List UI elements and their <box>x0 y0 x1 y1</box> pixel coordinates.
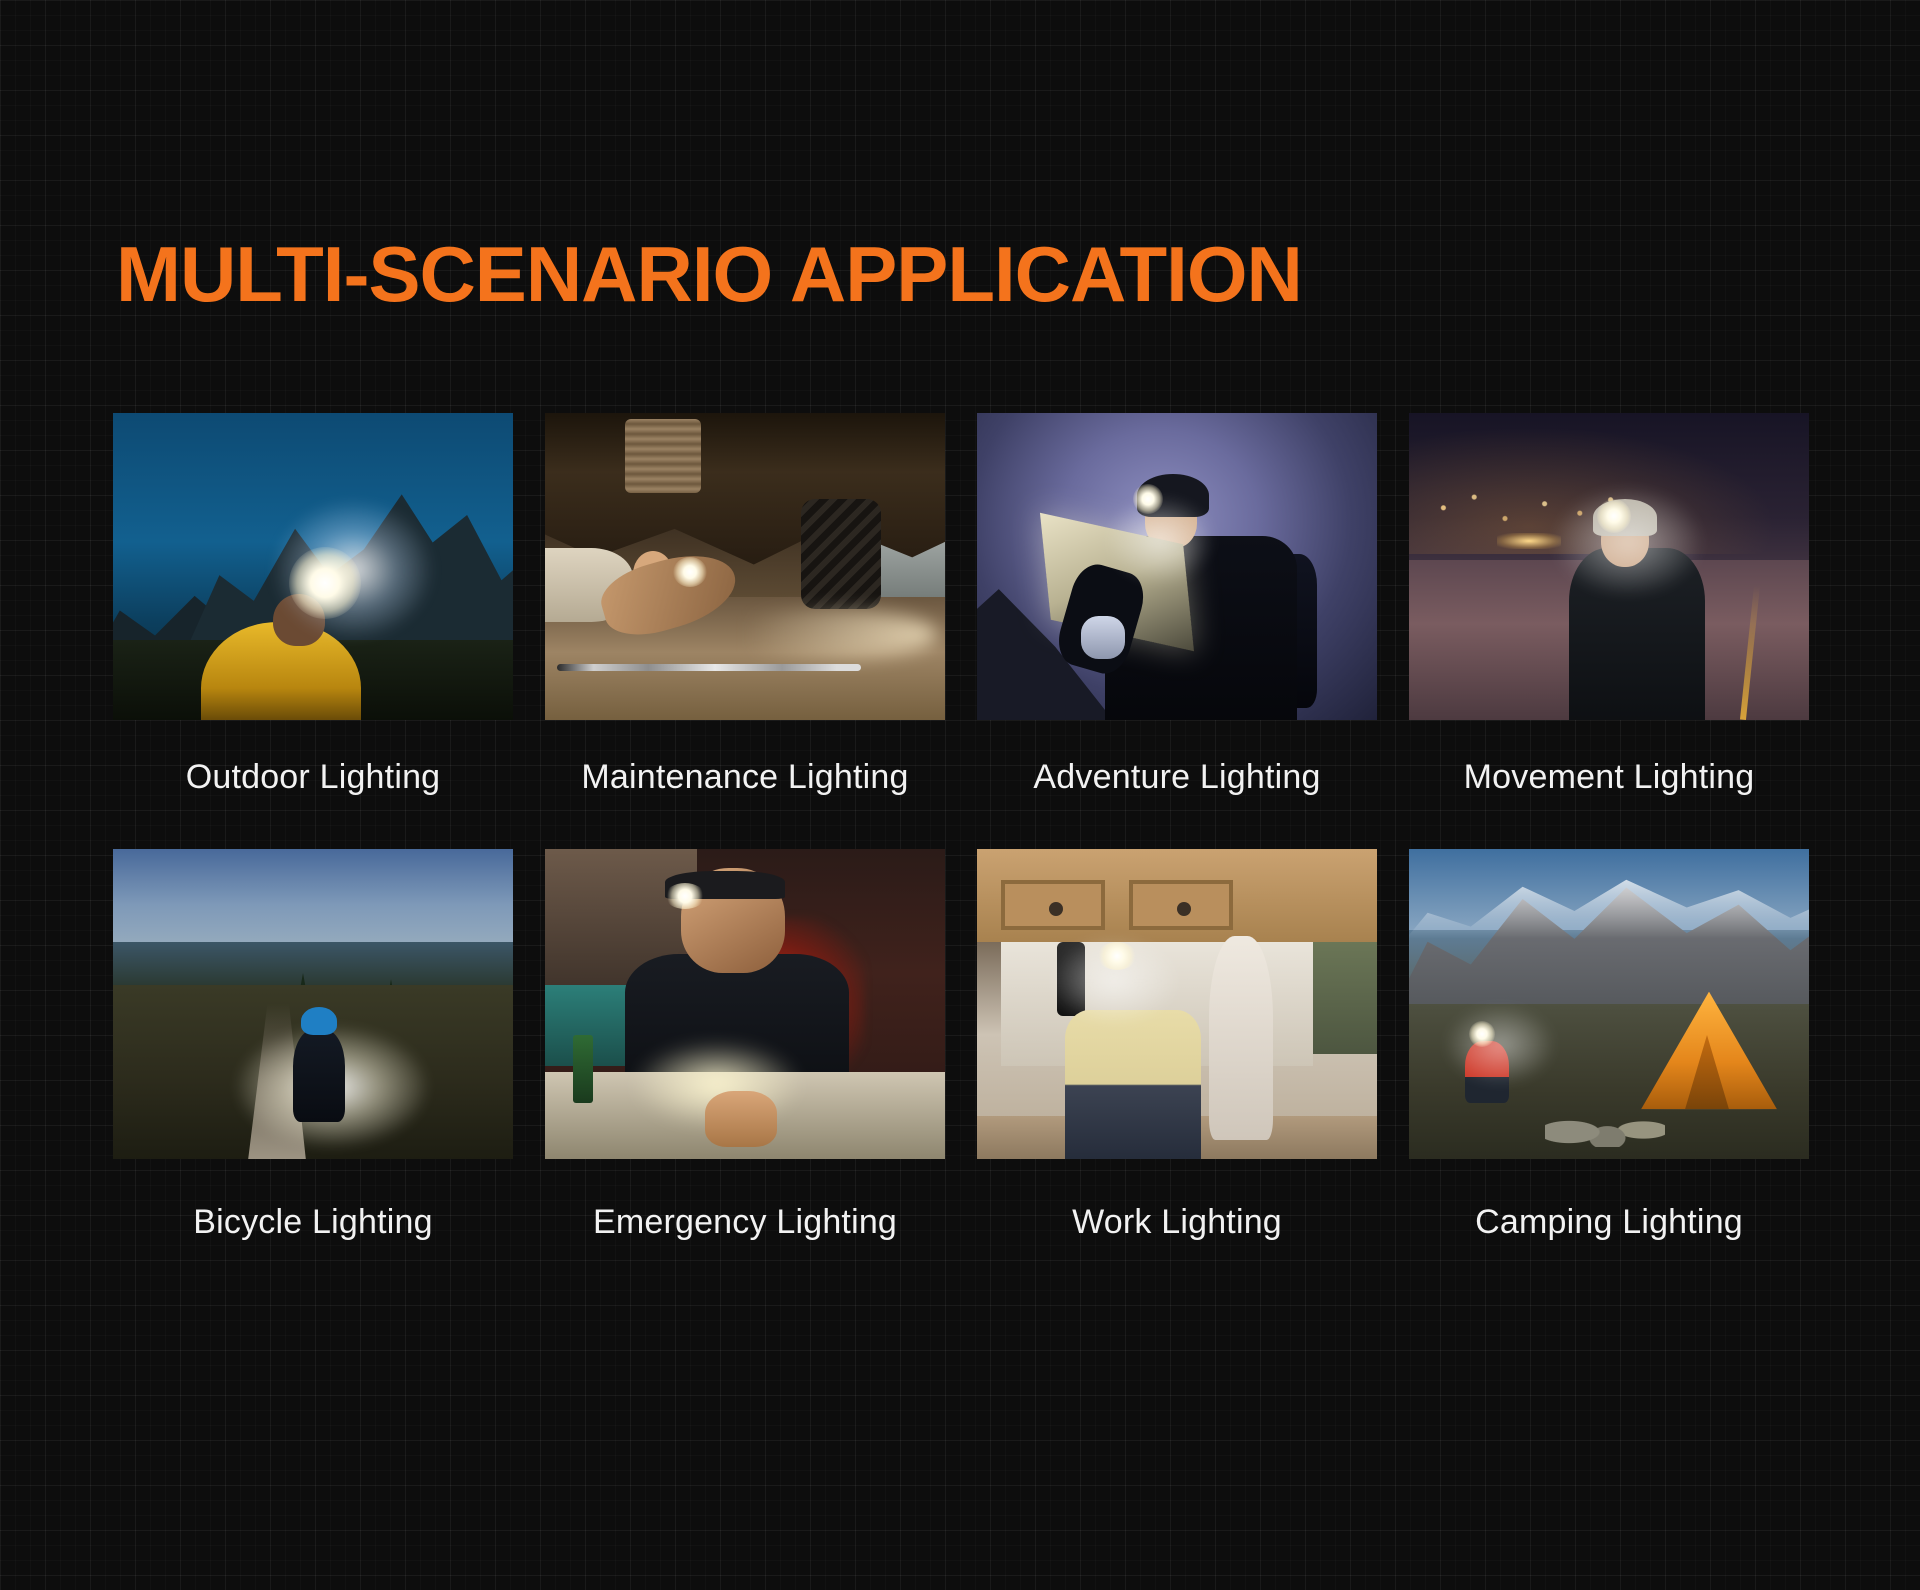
dusk-sky <box>113 849 513 942</box>
scenario-image-work-lighting <box>977 849 1377 1159</box>
scenario-label-work-lighting: Work Lighting <box>1072 1203 1282 1242</box>
scenario-image-outdoor-lighting <box>113 413 513 720</box>
wrench-tool <box>557 664 861 671</box>
scenario-image-bicycle-lighting <box>113 849 513 1159</box>
cyclist-body <box>293 1029 345 1122</box>
headlamp-icon <box>665 883 705 909</box>
scenario-card-emergency-lighting[interactable]: Emergency Lighting <box>545 849 945 1242</box>
car-headlights <box>1497 533 1561 549</box>
worker-hand <box>705 1091 777 1147</box>
scenario-image-camping-lighting <box>1409 849 1809 1159</box>
scenario-image-emergency-lighting <box>545 849 945 1159</box>
cabinet-knob <box>1049 902 1063 916</box>
sink-pipe <box>1057 942 1085 1016</box>
scenario-card-bicycle-lighting[interactable]: Bicycle Lighting <box>113 849 513 1242</box>
scenario-label-movement-lighting: Movement Lighting <box>1464 758 1755 797</box>
headlamp-icon <box>1597 499 1631 533</box>
scenario-card-camping-lighting[interactable]: Camping Lighting <box>1409 849 1809 1242</box>
scenario-label-outdoor-lighting: Outdoor Lighting <box>186 758 441 797</box>
scenario-card-adventure-lighting[interactable]: Adventure Lighting <box>977 413 1377 797</box>
cabinet-knob <box>1177 902 1191 916</box>
scenario-label-emergency-lighting: Emergency Lighting <box>593 1203 897 1242</box>
scenario-card-maintenance-lighting[interactable]: Maintenance Lighting <box>545 413 945 797</box>
scenario-card-movement-lighting[interactable]: Movement Lighting <box>1409 413 1809 797</box>
glove <box>1081 616 1125 659</box>
light-beam <box>713 610 937 659</box>
hanging-towel <box>1209 936 1273 1141</box>
scenario-image-movement-lighting <box>1409 413 1809 720</box>
scenario-row-1: Outdoor Lighting Maintenance Lighting <box>113 413 1813 797</box>
scenario-label-bicycle-lighting: Bicycle Lighting <box>193 1203 432 1242</box>
page-title: MULTI-SCENARIO APPLICATION <box>116 235 1302 313</box>
scenario-image-maintenance-lighting <box>545 413 945 720</box>
headlamp-icon <box>1097 942 1137 970</box>
headlamp-icon <box>289 547 361 619</box>
screwdriver-tool <box>573 1035 593 1103</box>
tire <box>801 499 881 610</box>
scenario-card-outdoor-lighting[interactable]: Outdoor Lighting <box>113 413 513 797</box>
scenario-grid: Outdoor Lighting Maintenance Lighting <box>113 413 1813 1242</box>
worker-body <box>1065 1010 1201 1159</box>
scenario-label-camping-lighting: Camping Lighting <box>1475 1203 1743 1242</box>
scenario-label-adventure-lighting: Adventure Lighting <box>1033 758 1320 797</box>
runner-body <box>1569 548 1705 720</box>
cyclist-helmet <box>301 1007 337 1035</box>
scenario-label-maintenance-lighting: Maintenance Lighting <box>581 758 908 797</box>
scenario-card-work-lighting[interactable]: Work Lighting <box>977 849 1377 1242</box>
scenario-image-adventure-lighting <box>977 413 1377 720</box>
scenario-row-2: Bicycle Lighting Emergency Lighting <box>113 849 1813 1242</box>
camper-red-jacket <box>1465 1041 1509 1103</box>
oil-filter <box>625 419 701 493</box>
